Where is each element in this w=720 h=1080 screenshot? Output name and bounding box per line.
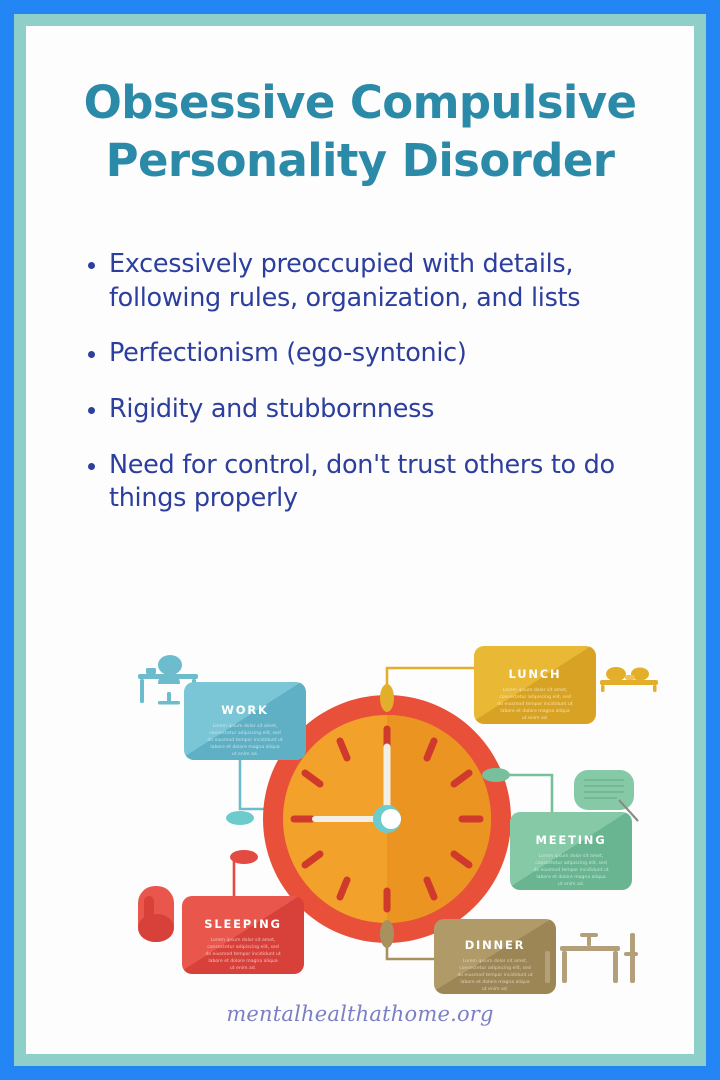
bullet-dot-icon: [88, 463, 95, 470]
page-title-line-1: Obsessive Compulsive: [54, 74, 666, 132]
bullet-dot-icon: [88, 351, 95, 358]
dining-table-icon: [545, 933, 638, 983]
list-item: Excessively preoccupied with details, fo…: [82, 248, 664, 315]
svg-text:do eiusmod tempor incididunt u: do eiusmod tempor incididunt ut: [207, 737, 283, 743]
svg-text:do eiusmod tempor incididunt u: do eiusmod tempor incididunt ut: [497, 701, 573, 707]
svg-text:labore et dolore magna aliqua: labore et dolore magna aliqua: [210, 744, 279, 750]
svg-text:labore et dolore magna aliqua: labore et dolore magna aliqua: [460, 979, 529, 985]
page-title-line-2: Personality Disorder: [54, 132, 666, 190]
card-dinner: DINNER Lorem ipsum dolor sit amet, conse…: [434, 919, 556, 994]
svg-text:consectetur adipiscing elit, s: consectetur adipiscing elit, sed: [535, 860, 607, 866]
card-sleeping-label: SLEEPING: [204, 917, 282, 931]
svg-text:ut enim ad.: ut enim ad.: [232, 751, 258, 757]
svg-text:Lorem ipsum dolor sit amet,: Lorem ipsum dolor sit amet,: [211, 937, 276, 943]
footer: mentalhealthathome.org: [26, 1002, 694, 1026]
svg-text:labore et dolore magna aliqua: labore et dolore magna aliqua: [500, 708, 569, 714]
clock-node-sleeping: [230, 850, 258, 864]
clock-node-lunch: [380, 684, 394, 712]
bullet-dot-icon: [88, 262, 95, 269]
card-sleeping: SLEEPING Lorem ipsum dolor sit amet, con…: [182, 896, 304, 974]
bullet-dot-icon: [88, 407, 95, 414]
svg-text:ut enim ad.: ut enim ad.: [230, 965, 256, 971]
card-dinner-label: DINNER: [465, 938, 526, 952]
svg-text:Lorem ipsum dolor sit amet,: Lorem ipsum dolor sit amet,: [539, 853, 604, 859]
list-item: Perfectionism (ego-syntonic): [82, 337, 664, 371]
list-item: Rigidity and stubbornness: [82, 393, 664, 427]
list-item-label: Need for control, don't trust others to …: [109, 449, 664, 516]
card-meeting: MEETING Lorem ipsum dolor sit amet, cons…: [510, 812, 632, 890]
svg-text:consectetur adipiscing elit, s: consectetur adipiscing elit, sed: [207, 944, 279, 950]
list-item-label: Rigidity and stubbornness: [109, 393, 434, 427]
clock-node-meeting: [482, 768, 510, 782]
site-url-link[interactable]: mentalhealthathome.org: [226, 1002, 493, 1026]
bed-pillow-icon: [138, 886, 174, 942]
svg-text:consectetur adipiscing elit, s: consectetur adipiscing elit, sed: [499, 694, 571, 700]
poster-canvas: Obsessive Compulsive Personality Disorde…: [26, 26, 694, 1054]
page-title: Obsessive Compulsive Personality Disorde…: [26, 74, 694, 189]
daily-routine-clock-infographic: WORK Lorem ipsum dolor sit amet, consect…: [122, 634, 662, 994]
card-work-label: WORK: [221, 703, 268, 717]
svg-text:do eiusmod tempor incididunt u: do eiusmod tempor incididunt ut: [205, 951, 281, 957]
svg-text:labore et dolore magna aliqua: labore et dolore magna aliqua: [208, 958, 277, 964]
svg-text:do eiusmod tempor incididunt u: do eiusmod tempor incididunt ut: [457, 972, 533, 978]
symptom-list: Excessively preoccupied with details, fo…: [82, 248, 664, 538]
poster-root: Obsessive Compulsive Personality Disorde…: [0, 0, 720, 1080]
connector-lunch: [387, 668, 474, 696]
list-item: Need for control, don't trust others to …: [82, 449, 664, 516]
svg-text:consectetur adipiscing elit, s: consectetur adipiscing elit, sed: [209, 730, 281, 736]
list-item-label: Excessively preoccupied with details, fo…: [109, 248, 664, 315]
svg-text:ut enim ad.: ut enim ad.: [558, 881, 584, 887]
food-shelf-icon: [600, 667, 658, 692]
svg-text:consectetur adipiscing elit, s: consectetur adipiscing elit, sed: [459, 965, 531, 971]
clock-hub-center: [381, 809, 401, 829]
card-lunch: LUNCH Lorem ipsum dolor sit amet, consec…: [474, 646, 596, 724]
clock-node-dinner: [380, 920, 394, 948]
svg-text:labore et dolore magna aliqua: labore et dolore magna aliqua: [536, 874, 605, 880]
svg-text:do eiusmod tempor incididunt u: do eiusmod tempor incididunt ut: [533, 867, 609, 873]
svg-text:Lorem ipsum dolor sit amet,: Lorem ipsum dolor sit amet,: [463, 958, 528, 964]
clock-node-work: [226, 811, 254, 825]
card-work: WORK Lorem ipsum dolor sit amet, consect…: [184, 682, 306, 760]
svg-text:Lorem ipsum dolor sit amet,: Lorem ipsum dolor sit amet,: [213, 723, 278, 729]
svg-text:ut enim ad.: ut enim ad.: [522, 715, 548, 721]
list-item-label: Perfectionism (ego-syntonic): [109, 337, 467, 371]
svg-text:Lorem ipsum dolor sit amet,: Lorem ipsum dolor sit amet,: [503, 687, 568, 693]
svg-text:ut enim ad.: ut enim ad.: [482, 986, 508, 992]
card-meeting-label: MEETING: [536, 833, 607, 847]
inner-border-frame: Obsessive Compulsive Personality Disorde…: [14, 14, 706, 1066]
card-lunch-label: LUNCH: [509, 667, 562, 681]
